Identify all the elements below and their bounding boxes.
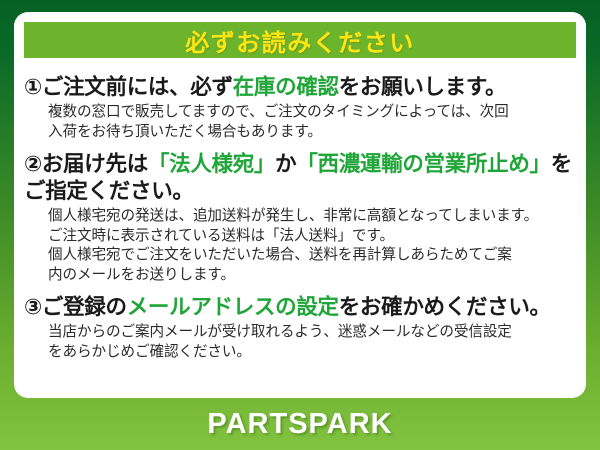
- section-3-body-line-1: 当店からのご案内メールが受け取れるよう、迷惑メールなどの受信設定: [48, 323, 578, 343]
- notice-section-3: ③ご登録のメールアドレスの設定をお確かめください。 当店からのご案内メールが受け…: [24, 285, 578, 362]
- section-1-text-b: をお願いします。: [339, 75, 506, 99]
- section-2-body-line-3: 個人様宅宛でご注文をいただいた場合、送料を再計算しあらためてご案: [48, 246, 578, 266]
- white-panel: 必ずお読みください ①ご注文前には、必ず在庫の確認をお願いします。 複数の窓口で…: [14, 12, 586, 398]
- section-1-body-line-2: 入荷をお待ち頂いただく場合もあります。: [48, 123, 578, 143]
- section-1-text-accent: 在庫の確認: [233, 75, 339, 99]
- notice-sections: ①ご注文前には、必ず在庫の確認をお願いします。 複数の窓口で販売してますので、ご…: [14, 64, 586, 362]
- section-2-text-accent-2: 「西濃運輸の営業所止め」: [296, 152, 550, 176]
- section-2-text-b: か: [275, 152, 296, 176]
- section-2-marker: ②: [24, 152, 42, 176]
- section-1-marker: ①: [24, 75, 42, 99]
- section-3-text-a: ご登録の: [42, 295, 127, 319]
- section-3-headline: ③ご登録のメールアドレスの設定をお確かめください。: [24, 294, 578, 321]
- section-2-body-line-2: ご注文時に表示されている送料は「法人送料」です。: [48, 227, 578, 247]
- section-1-text-a: ご注文前には、必ず: [42, 75, 233, 99]
- section-3-body-line-2: をあらかじめご確認ください。: [48, 343, 578, 363]
- section-3-text-accent: メールアドレスの設定: [127, 295, 339, 319]
- section-1-body: 複数の窓口で販売してますので、ご注文のタイミングによっては、次回 入荷をお待ち頂…: [24, 101, 578, 142]
- section-2-body: 個人様宅宛の発送は、追加送料が発生し、非常に高額となってしまいます。 ご注文時に…: [24, 205, 578, 285]
- section-2-body-line-4: 内のメールをお送りします。: [48, 266, 578, 286]
- section-2-body-line-1: 個人様宅宛の発送は、追加送料が発生し、非常に高額となってしまいます。: [48, 207, 578, 227]
- title-bar: 必ずお読みください: [24, 22, 576, 58]
- notice-section-1: ①ご注文前には、必ず在庫の確認をお願いします。 複数の窓口で販売してますので、ご…: [24, 64, 578, 142]
- section-1-body-line-1: 複数の窓口で販売してますので、ご注文のタイミングによっては、次回: [48, 103, 578, 123]
- notice-section-2: ②お届け先は「法人様宛」か「西濃運輸の営業所止め」をご指定ください。 個人様宅宛…: [24, 142, 578, 285]
- brand-name: PARTSPARK: [207, 408, 392, 441]
- section-2-text-accent-1: 「法人様宛」: [148, 152, 275, 176]
- notice-banner: 必ずお読みください ①ご注文前には、必ず在庫の確認をお願いします。 複数の窓口で…: [0, 0, 600, 450]
- section-2-headline: ②お届け先は「法人様宛」か「西濃運輸の営業所止め」をご指定ください。: [24, 151, 578, 205]
- section-3-marker: ③: [24, 295, 42, 319]
- section-2-text-a: お届け先は: [42, 152, 148, 176]
- section-3-text-b: をお確かめください。: [339, 295, 551, 319]
- section-1-headline: ①ご注文前には、必ず在庫の確認をお願いします。: [24, 74, 578, 101]
- section-3-body: 当店からのご案内メールが受け取れるよう、迷惑メールなどの受信設定 をあらかじめご…: [24, 321, 578, 362]
- footer: PARTSPARK: [0, 398, 600, 450]
- page-title: 必ずお読みください: [185, 23, 415, 58]
